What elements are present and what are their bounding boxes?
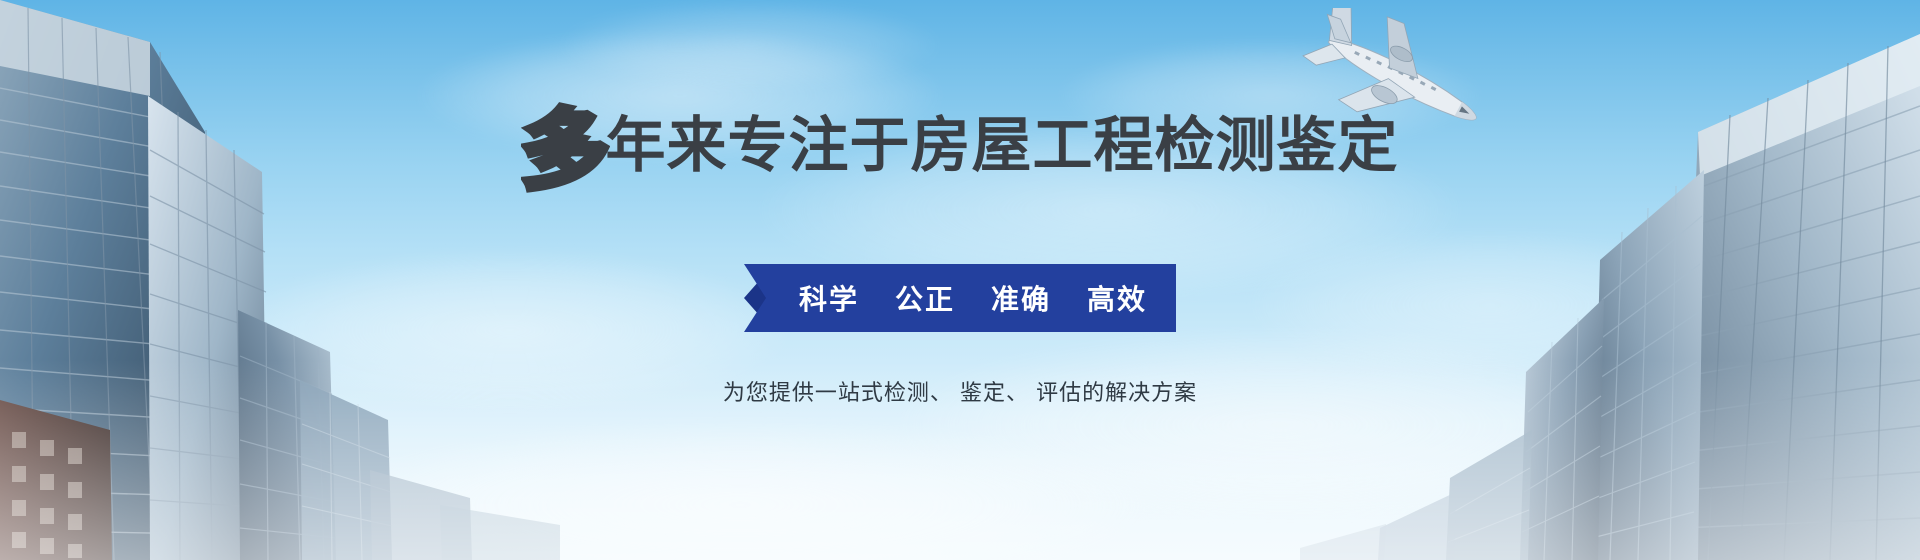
headline-rest-text: 年来专注于房屋工程检测鉴定 — [606, 116, 1399, 176]
ribbon-item-kexue: 科学 — [799, 278, 859, 318]
hero-banner: 多年来专注于房屋工程检测鉴定 科学 公正 准确 高效 为您提供一站式检测、 鉴定… — [0, 0, 1920, 560]
ribbon-item-zhunque: 准确 — [991, 278, 1051, 318]
ribbon-item-gaoxiao: 高效 — [1087, 278, 1147, 318]
ribbon-item-gongzheng: 公正 — [895, 278, 955, 318]
headline-emphasis-char: 多 — [521, 108, 609, 194]
hero-subtitle: 为您提供一站式检测、 鉴定、 评估的解决方案 — [0, 375, 1920, 407]
page-title: 多年来专注于房屋工程检测鉴定 — [0, 108, 1920, 194]
hero-content: 多年来专注于房屋工程检测鉴定 科学 公正 准确 高效 为您提供一站式检测、 鉴定… — [0, 0, 1920, 560]
value-ribbon: 科学 公正 准确 高效 — [744, 264, 1176, 332]
